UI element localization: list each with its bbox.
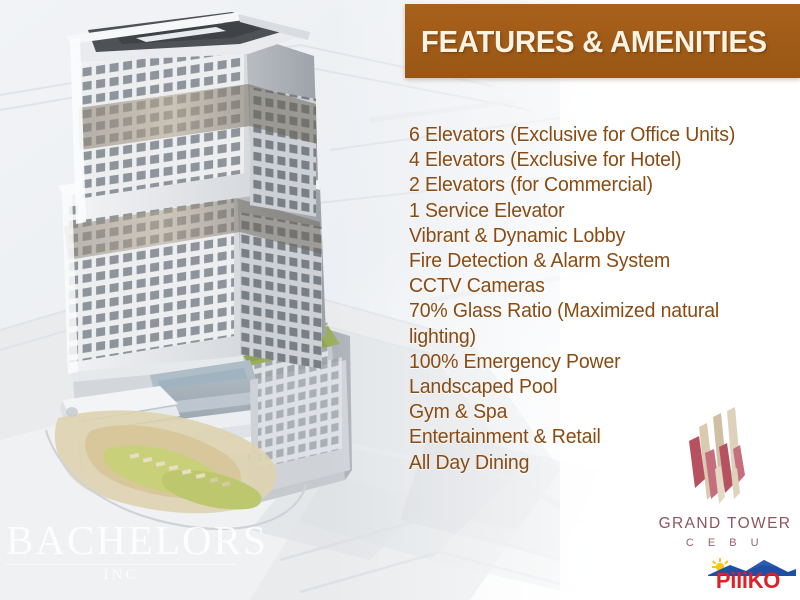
list-item: 1 Service Elevator bbox=[409, 198, 772, 223]
list-item: 4 Elevators (Exclusive for Hotel) bbox=[409, 147, 772, 172]
project-logo-name: GRAND TOWER bbox=[655, 515, 795, 533]
list-item: 6 Elevators (Exclusive for Office Units) bbox=[409, 122, 772, 147]
list-item: 2 Elevators (for Commercial) bbox=[409, 172, 772, 197]
grand-tower-bars-icon bbox=[683, 405, 773, 510]
project-logo: GRAND TOWER C E B U bbox=[655, 405, 795, 555]
list-item: Vibrant & Dynamic Lobby bbox=[409, 223, 772, 248]
list-item: Landscaped Pool bbox=[409, 374, 772, 399]
project-logo-location: C E B U bbox=[655, 537, 795, 549]
list-item: Fire Detection & Alarm System bbox=[409, 248, 772, 273]
developer-logo[interactable]: PiliKO bbox=[700, 556, 796, 598]
developer-logo-name: PiliKO bbox=[700, 570, 796, 592]
list-item: 100% Emergency Power bbox=[409, 349, 772, 374]
page-title: FEATURES & AMENITIES bbox=[421, 26, 767, 57]
header-banner: FEATURES & AMENITIES bbox=[405, 4, 800, 78]
list-item: 70% Glass Ratio (Maximized natural light… bbox=[409, 298, 789, 348]
list-item: CCTV Cameras bbox=[409, 273, 772, 298]
slide-root: BACHELORS INC FEATURES & AMENITIES 6 Ele… bbox=[0, 0, 800, 600]
